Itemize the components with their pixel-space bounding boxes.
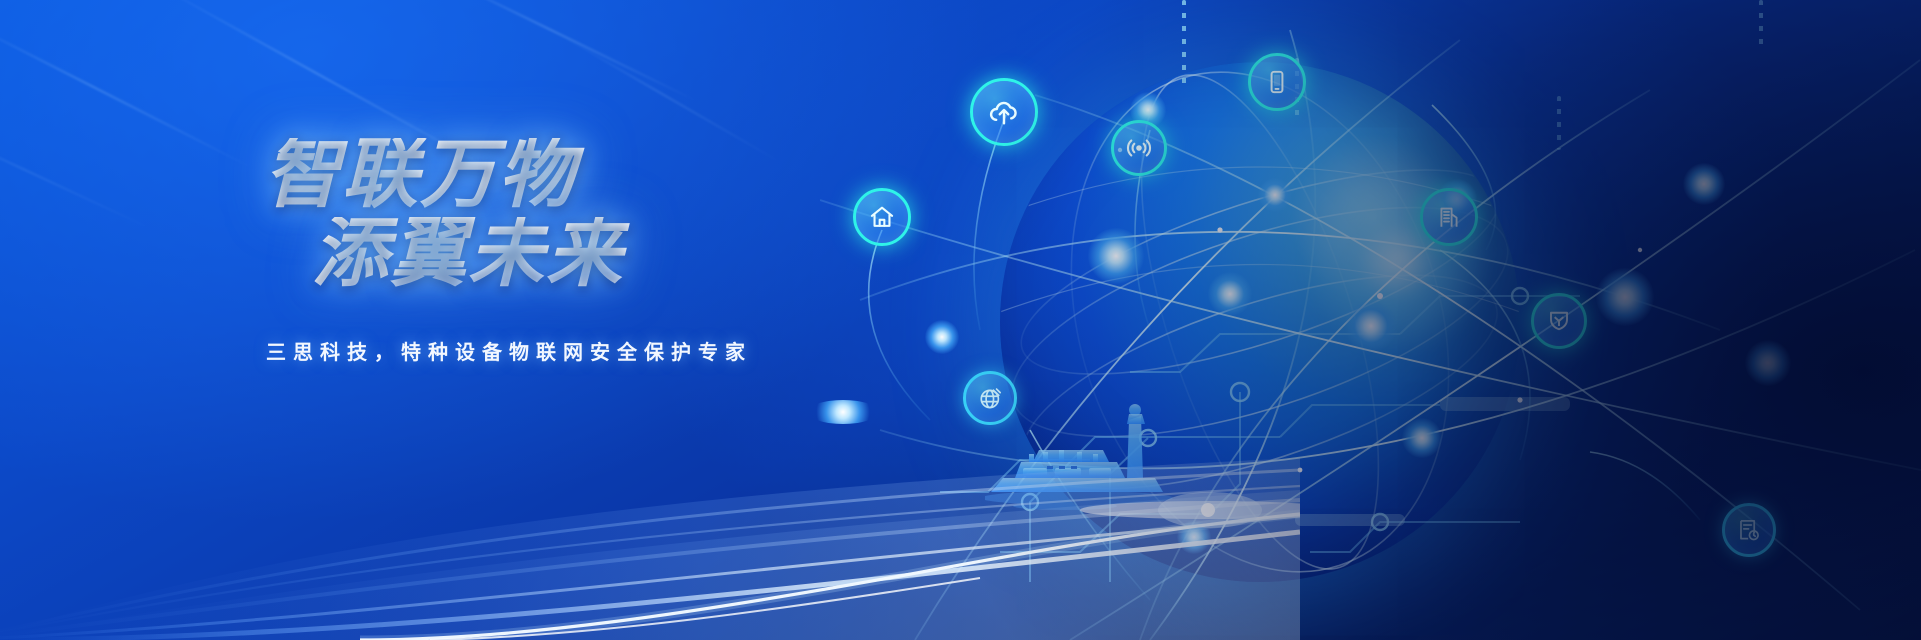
wifi-signal-icon[interactable] bbox=[1111, 120, 1167, 176]
headline-line-2: 添翼未来 bbox=[250, 217, 970, 290]
horizon-flare bbox=[808, 400, 878, 424]
report-refresh-icon[interactable] bbox=[1722, 503, 1776, 557]
globe-network-icon[interactable] bbox=[963, 371, 1017, 425]
shield-icon[interactable] bbox=[1531, 293, 1587, 349]
cloud-upload-glyph bbox=[987, 95, 1021, 129]
hero-banner: 智联万物 添翼未来 三思科技，特种设备物联网安全保护专家 bbox=[0, 0, 1921, 640]
building-glyph bbox=[1436, 204, 1462, 230]
hero-subtitle: 三思科技，特种设备物联网安全保护专家 bbox=[250, 336, 970, 365]
cloud-upload-icon[interactable] bbox=[970, 78, 1038, 146]
glow-node bbox=[1683, 163, 1725, 205]
glow-node bbox=[1745, 340, 1791, 386]
dotted-beam bbox=[1557, 96, 1561, 150]
mobile-phone-glyph bbox=[1264, 69, 1290, 95]
globe-network-glyph bbox=[977, 385, 1004, 412]
hero-copy: 智联万物 添翼未来 三思科技，特种设备物联网安全保护专家 bbox=[250, 138, 970, 365]
report-refresh-glyph bbox=[1736, 517, 1762, 543]
headline-line-1: 智联万物 bbox=[250, 138, 970, 211]
shield-glyph bbox=[1546, 308, 1572, 334]
dotted-beam bbox=[1182, 0, 1186, 86]
wifi-signal-glyph bbox=[1125, 134, 1153, 162]
dotted-beam bbox=[1759, 0, 1763, 48]
mobile-phone-icon[interactable] bbox=[1248, 53, 1306, 111]
document-building-icon[interactable] bbox=[1420, 188, 1478, 246]
